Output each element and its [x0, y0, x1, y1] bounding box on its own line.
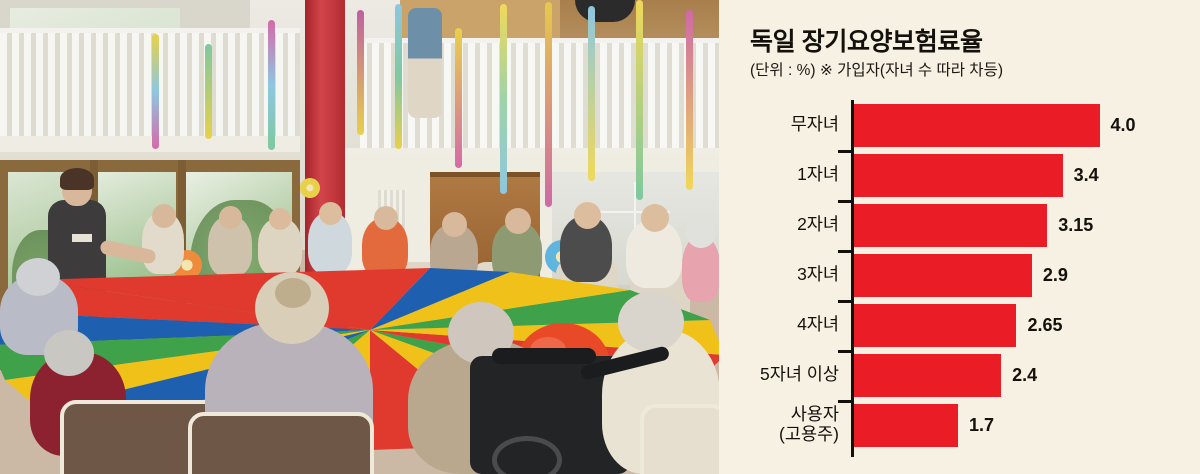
bar-value-label: 3.15 — [1058, 215, 1093, 236]
streamer-10 — [636, 0, 643, 200]
bar-category-label-line: 4자녀 — [797, 315, 839, 335]
bar — [854, 154, 1063, 197]
bar-category-label-line: 사용자 — [791, 405, 839, 425]
staff-name-badge — [72, 234, 92, 242]
bar-category-label-line: 무자녀 — [791, 115, 839, 135]
bar-row: 1자녀3.4 — [719, 150, 1200, 200]
streamer-5 — [395, 4, 402, 149]
bar — [854, 104, 1100, 147]
person-back-7-head — [505, 208, 531, 234]
bar-chart-plot: 무자녀4.01자녀3.42자녀3.153자녀2.94자녀2.655자녀 이상2.… — [719, 96, 1200, 466]
person-back-1-head — [152, 204, 176, 228]
bar-row: 사용자(고용주)1.7 — [719, 400, 1200, 450]
paper-flower-6 — [300, 178, 320, 198]
streamer-1 — [152, 34, 159, 149]
bar-row: 2자녀3.15 — [719, 200, 1200, 250]
bar-row: 무자녀4.0 — [719, 100, 1200, 150]
bar-category-label: 사용자(고용주) — [719, 400, 839, 450]
bar-rows-container: 무자녀4.01자녀3.42자녀3.153자녀2.94자녀2.655자녀 이상2.… — [719, 96, 1200, 461]
door-frame-top — [430, 172, 540, 177]
axis-tick — [838, 150, 852, 153]
person-fg-left-2-head — [44, 330, 94, 376]
person-back-3-head — [269, 208, 291, 230]
bar — [854, 204, 1048, 247]
bar-value-label: 2.9 — [1043, 265, 1068, 286]
bar-category-label: 3자녀 — [719, 250, 839, 300]
chair-fg-3 — [640, 404, 719, 474]
streamer-2 — [205, 44, 212, 139]
axis-tick — [838, 250, 852, 253]
streamer-11 — [686, 10, 693, 190]
bar-value-label: 1.7 — [969, 415, 994, 436]
person-back-8-head — [574, 202, 601, 229]
person-fg-center-bun — [275, 278, 311, 308]
balcony-ledge-left — [0, 136, 300, 152]
person-back-2-head — [219, 206, 242, 229]
infographic-page: 독일 장기요양보험료율 (단위 : %) ※ 가입자(자녀 수 따라 차등) 무… — [0, 0, 1200, 474]
bar-row: 4자녀2.65 — [719, 300, 1200, 350]
streamer-8 — [545, 2, 552, 207]
streamer-3 — [268, 20, 275, 150]
chair-fg-2 — [188, 412, 374, 474]
staff-member-hair — [60, 168, 94, 190]
chart-panel: 독일 장기요양보험료율 (단위 : %) ※ 가입자(자녀 수 따라 차등) 무… — [719, 0, 1200, 474]
person-back-4-head — [319, 202, 342, 225]
axis-tick — [838, 400, 852, 403]
bar-row: 3자녀2.9 — [719, 250, 1200, 300]
bar-category-label-line: 5자녀 이상 — [760, 365, 839, 385]
streamer-6 — [455, 28, 462, 168]
chart-title: 독일 장기요양보험료율 — [750, 22, 983, 58]
person-upper-floor — [408, 8, 442, 118]
person-back-10-head — [686, 218, 716, 248]
bar-category-label: 5자녀 이상 — [719, 350, 839, 400]
axis-tick — [838, 300, 852, 303]
bar-value-label: 4.0 — [1111, 115, 1136, 136]
bar-category-label-line: 3자녀 — [797, 265, 839, 285]
bar — [854, 354, 1002, 397]
wheelchair-handle — [492, 348, 596, 364]
bar — [854, 304, 1017, 347]
person-back-5-head — [374, 206, 398, 230]
bar-category-label-line: 2자녀 — [797, 215, 839, 235]
bar-value-label: 2.4 — [1012, 365, 1037, 386]
balcony-railing-left — [0, 28, 300, 152]
axis-tick — [838, 350, 852, 353]
person-back-9-head — [641, 204, 669, 232]
streamer-4 — [357, 10, 364, 135]
bar-category-label: 1자녀 — [719, 150, 839, 200]
bar-value-label: 2.65 — [1027, 315, 1062, 336]
bar-row: 5자녀 이상2.4 — [719, 350, 1200, 400]
person-back-6-head — [442, 212, 467, 237]
bar — [854, 404, 959, 447]
bar-category-label-line: 1자녀 — [797, 165, 839, 185]
bar-value-label: 3.4 — [1074, 165, 1099, 186]
person-fg-right-2-head — [618, 292, 684, 352]
bar-category-label: 4자녀 — [719, 300, 839, 350]
bar-category-label: 무자녀 — [719, 100, 839, 150]
bar-category-label: 2자녀 — [719, 200, 839, 250]
chart-subtitle: (단위 : %) ※ 가입자(자녀 수 따라 차등) — [750, 58, 1003, 80]
person-fg-left-1-head — [16, 258, 60, 296]
bar-category-label-line: (고용주) — [779, 425, 839, 445]
streamer-7 — [500, 4, 507, 194]
axis-tick — [838, 200, 852, 203]
nursing-home-photo — [0, 0, 719, 474]
bar — [854, 254, 1032, 297]
streamer-9 — [588, 6, 595, 181]
